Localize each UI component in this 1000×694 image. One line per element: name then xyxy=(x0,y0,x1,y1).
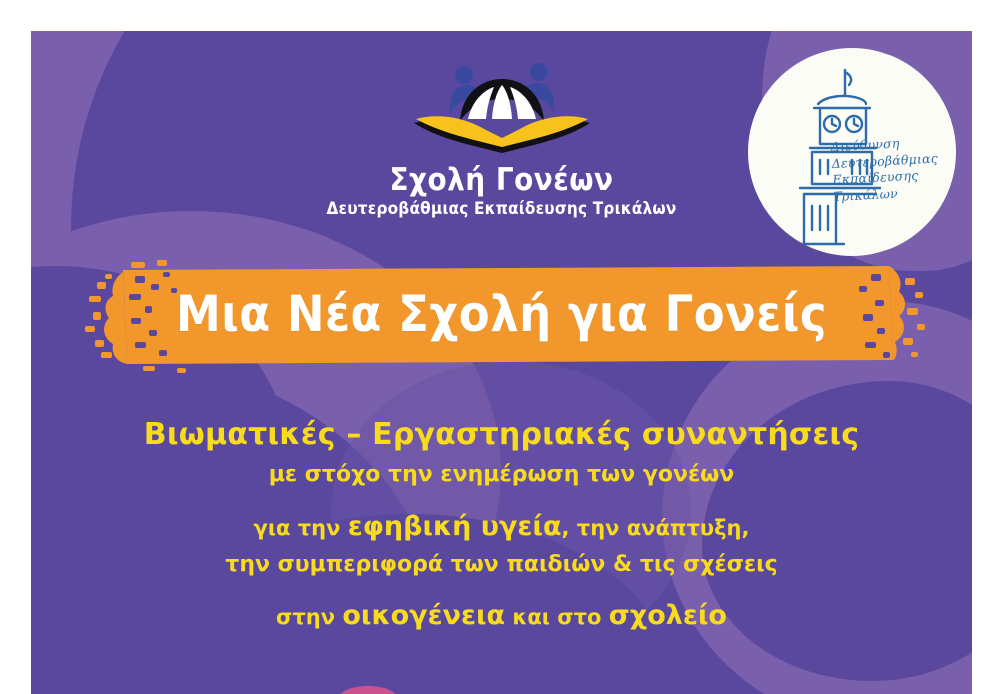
badge-script-text: Διεύθυνση Δευτεροβάθμιας Εκπαίδευσης Τρι… xyxy=(830,133,951,205)
headline-text: Μια Νέα Σχολή για Γονείς xyxy=(31,285,972,343)
body-line-3-part-c: , την ανάπτυξη, xyxy=(562,516,750,540)
body-line-4: την συμπεριφορά των παιδιών & τις σχέσει… xyxy=(31,551,972,579)
body-line-5: στην οικογένεια και στο σχολείο xyxy=(31,599,972,634)
school-globe-book-logo-icon xyxy=(402,57,602,162)
body-line-3-emphasis: εφηβική υγεία xyxy=(348,511,562,542)
body-line-2: με στόχο την ενημέρωση των γονέων xyxy=(31,461,972,489)
body-line-5-emphasis-school: σχολείο xyxy=(609,600,727,631)
body-line-5-part-c: και στο xyxy=(505,605,609,629)
body-line-3-part-a: για την xyxy=(254,516,348,540)
poster-canvas: Σχολή Γονέων Δευτεροβάθμιας Εκπαίδευσης … xyxy=(0,0,1000,694)
body-line-1: Βιωματικές – Εργαστηριακές συναντήσεις xyxy=(31,416,972,454)
directorate-badge: Διεύθυνση Δευτεροβάθμιας Εκπαίδευσης Τρι… xyxy=(748,48,956,256)
body-line-5-part-a: στην xyxy=(276,605,342,629)
body-copy: Βιωματικές – Εργαστηριακές συναντήσεις μ… xyxy=(31,416,972,634)
headline-banner: Μια Νέα Σχολή για Γονείς xyxy=(31,256,972,374)
body-line-3: για την εφηβική υγεία, την ανάπτυξη, xyxy=(31,510,972,545)
body-line-5-emphasis-family: οικογένεια xyxy=(342,600,505,631)
poster-artboard: Σχολή Γονέων Δευτεροβάθμιας Εκπαίδευσης … xyxy=(31,31,972,694)
